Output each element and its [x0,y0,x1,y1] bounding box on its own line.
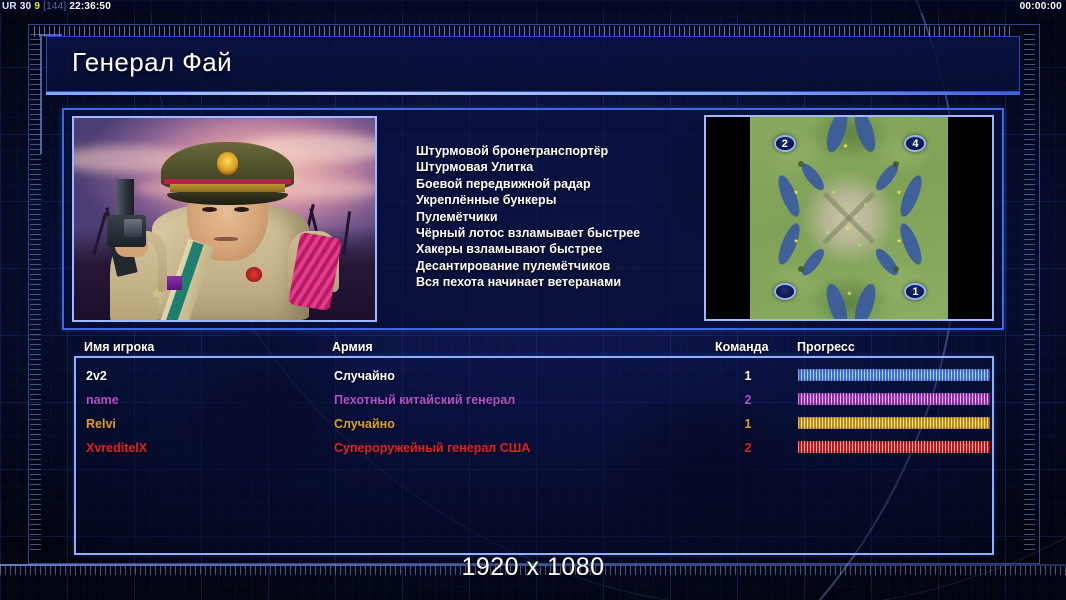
progress-bar [798,441,990,453]
ability-item: Штурмовая Улитка [416,159,686,175]
portrait-eye-right [234,207,249,212]
ability-item: Чёрный лотос взламывает быстрее [416,225,686,241]
progress-bar-fill [798,441,990,453]
start-position-marker[interactable]: 4 [904,135,926,152]
map-preview[interactable]: 2 4 1 [704,115,994,321]
player-team: 2 [741,436,755,460]
river-segment [774,221,803,267]
player-name: name [86,388,119,412]
start-position-marker[interactable] [774,283,796,300]
river-segment [823,117,852,155]
portrait-medal [246,267,263,281]
player-army: Супероружейный генерал США [334,436,530,460]
table-row[interactable]: 2v2Случайно1 [76,364,996,388]
portrait-eye-left [202,207,217,212]
resource-marker [897,190,902,195]
ability-item: Боевой передвижной радар [416,176,686,192]
table-row[interactable]: nameПехотный китайский генерал2 [76,388,996,412]
ability-item: Хакеры взламывают быстрее [416,241,686,257]
label-version: 30 [20,1,32,12]
player-name: 2v2 [86,364,107,388]
river-segment [774,173,803,219]
player-team: 2 [741,388,755,412]
ability-item: Пулемётчики [416,209,686,225]
player-roster-panel: 2v2Случайно1nameПехотный китайский генер… [74,356,994,555]
portrait-mouth [214,237,238,241]
label-count: 9 [34,1,40,12]
start-position-marker[interactable]: 1 [904,283,926,300]
river-segment [799,246,828,279]
player-team: 1 [741,364,755,388]
resolution-label: 1920 x 1080 [0,553,1066,582]
column-header-name: Имя игрока [84,340,154,356]
portrait-medal [167,276,182,290]
progress-bar-fill [798,369,990,381]
general-portrait [72,116,377,322]
general-ability-list: Штурмовой бронетранспортёр Штурмовая Ули… [416,143,686,291]
session-clock: 00:00:00 [1020,0,1062,13]
river-segment [823,281,852,319]
player-team: 1 [741,412,755,436]
column-header-army: Армия [332,340,373,356]
player-army: Случайно [334,412,395,436]
river-segment [897,173,926,219]
progress-bar-fill [798,417,990,429]
terrain-detail [798,161,804,167]
resource-marker [831,190,836,195]
start-position-marker[interactable]: 2 [774,135,796,152]
top-status-bar: UR 30 9 [144] 22:36:50 00:00:00 [0,0,1066,13]
river-segment [850,117,879,155]
label-ur: UR [2,1,17,12]
portrait-cap-badge [217,152,238,174]
page-title: Генерал Фай [72,47,232,78]
portrait-cap-stripe [164,179,290,184]
column-header-team: Команда [715,340,769,356]
label-bracket: [144] [43,1,66,12]
portrait-pistol-cylinder [124,219,142,237]
ability-item: Штурмовой бронетранспортёр [416,143,686,159]
resource-marker [847,291,852,296]
river-segment [850,281,879,319]
ability-item: Укреплённые бункеры [416,192,686,208]
progress-bar [798,369,990,381]
resource-marker [843,143,848,148]
progress-bar-fill [798,393,990,405]
minimap-terrain: 2 4 1 [750,117,948,319]
player-army: Случайно [334,364,395,388]
progress-bar [798,393,990,405]
player-name: Relvi [86,412,116,436]
game-lobby-screen: UR 30 9 [144] 22:36:50 00:00:00 Генерал … [0,0,1066,600]
player-name: XvreditelX [86,436,147,460]
table-row[interactable]: RelviСлучайно1 [76,412,996,436]
resource-marker [857,242,862,247]
column-header-progress: Прогресс [797,340,855,356]
ability-item: Вся пехота начинает ветеранами [416,274,686,290]
build-status-text: UR 30 9 [144] 22:36:50 [2,0,111,13]
table-row[interactable]: XvreditelXСупероружейный генерал США2 [76,436,996,460]
label-timestamp: 22:36:50 [69,1,111,12]
river-segment [897,221,926,267]
progress-bar [798,417,990,429]
player-army: Пехотный китайский генерал [334,388,515,412]
resource-marker [845,226,850,231]
ability-item: Десантирование пулемётчиков [416,258,686,274]
title-underline [46,92,1020,95]
river-segment [872,246,901,279]
